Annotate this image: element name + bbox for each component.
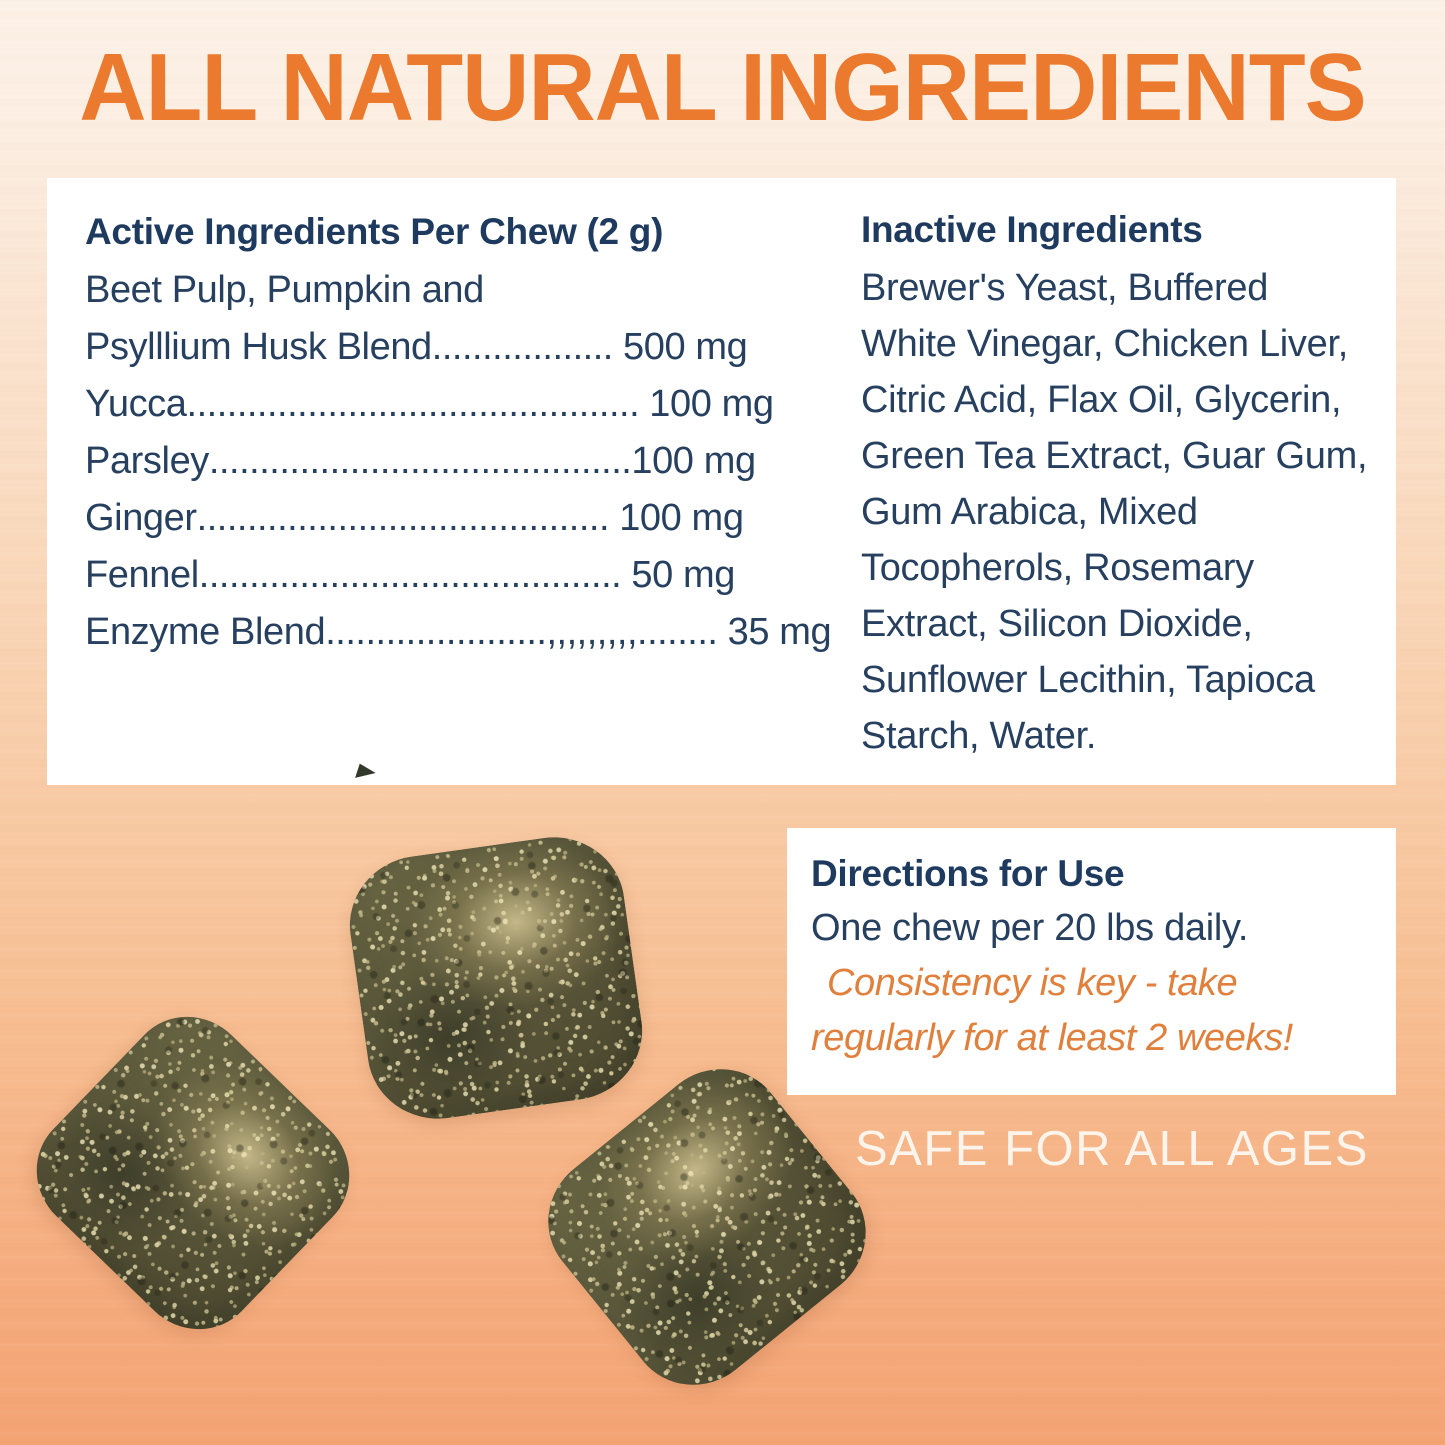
directions-card: Directions for Use One chew per 20 lbs d…: [787, 828, 1396, 1095]
inactive-ingredients-heading: Inactive Ingredients: [861, 206, 1372, 254]
active-ingredient-row: Fennel..................................…: [85, 547, 837, 604]
inactive-ingredients-text: Brewer's Yeast, Buffered White Vinegar, …: [861, 260, 1372, 764]
infographic-page: ALL NATURAL INGREDIENTS Active Ingredien…: [0, 0, 1445, 1445]
safe-for-all-ages-badge: SAFE FOR ALL AGES: [855, 1119, 1369, 1179]
dot-leader: ........................................…: [209, 440, 631, 482]
directions-heading: Directions for Use: [811, 850, 1378, 898]
directions-dosage-text: One chew per 20 lbs daily.: [811, 900, 1378, 956]
ingredient-amount: 50 mg: [631, 554, 735, 596]
ingredient-amount: 35 mg: [728, 611, 832, 653]
active-ingredient-intro-line: Beet Pulp, Pumpkin and: [85, 262, 837, 319]
ingredient-name: Enzyme Blend: [85, 611, 325, 653]
ingredient-amount: 100 mg: [649, 383, 773, 425]
dot-leader: ........................................…: [199, 554, 621, 596]
active-ingredient-row: Parsley.................................…: [85, 433, 837, 490]
ingredients-card: Active Ingredients Per Chew (2 g) Beet P…: [47, 178, 1396, 785]
active-ingredients-heading: Active Ingredients Per Chew (2 g): [85, 208, 837, 256]
chew-piece-image-top: [341, 828, 651, 1128]
page-title: ALL NATURAL INGREDIENTS: [22, 38, 1424, 138]
directions-note-line-1: Consistency is key - take: [811, 956, 1378, 1011]
active-ingredient-row: Enzyme Blend......................,,,,,,…: [85, 604, 837, 661]
directions-note-line-2: regularly for at least 2 weeks!: [811, 1011, 1378, 1066]
dot-leader: ......................,,,,,,,,,........: [325, 611, 717, 653]
ingredient-name: Yucca: [85, 383, 187, 425]
active-ingredients-column: Active Ingredients Per Chew (2 g) Beet P…: [47, 178, 837, 661]
ingredient-amount: 100 mg: [631, 440, 755, 482]
ingredient-name: Parsley: [85, 440, 209, 482]
dot-leader: ........................................…: [197, 497, 609, 539]
ingredient-name: Psylllium Husk Blend: [85, 326, 432, 368]
inactive-ingredients-column: Inactive Ingredients Brewer's Yeast, Buf…: [837, 178, 1396, 764]
active-ingredient-row: Psylllium Husk Blend.................. 5…: [85, 319, 837, 376]
chew-piece-image-left: [11, 991, 375, 1354]
dot-leader: ........................................…: [187, 383, 640, 425]
active-ingredient-row: Yucca...................................…: [85, 376, 837, 433]
ingredient-name: Fennel: [85, 554, 199, 596]
ingredient-amount: 500 mg: [623, 326, 747, 368]
ingredient-amount: 100 mg: [619, 497, 743, 539]
dot-leader: ..................: [432, 326, 613, 368]
ingredient-name: Ginger: [85, 497, 197, 539]
active-ingredient-row: Ginger..................................…: [85, 490, 837, 547]
